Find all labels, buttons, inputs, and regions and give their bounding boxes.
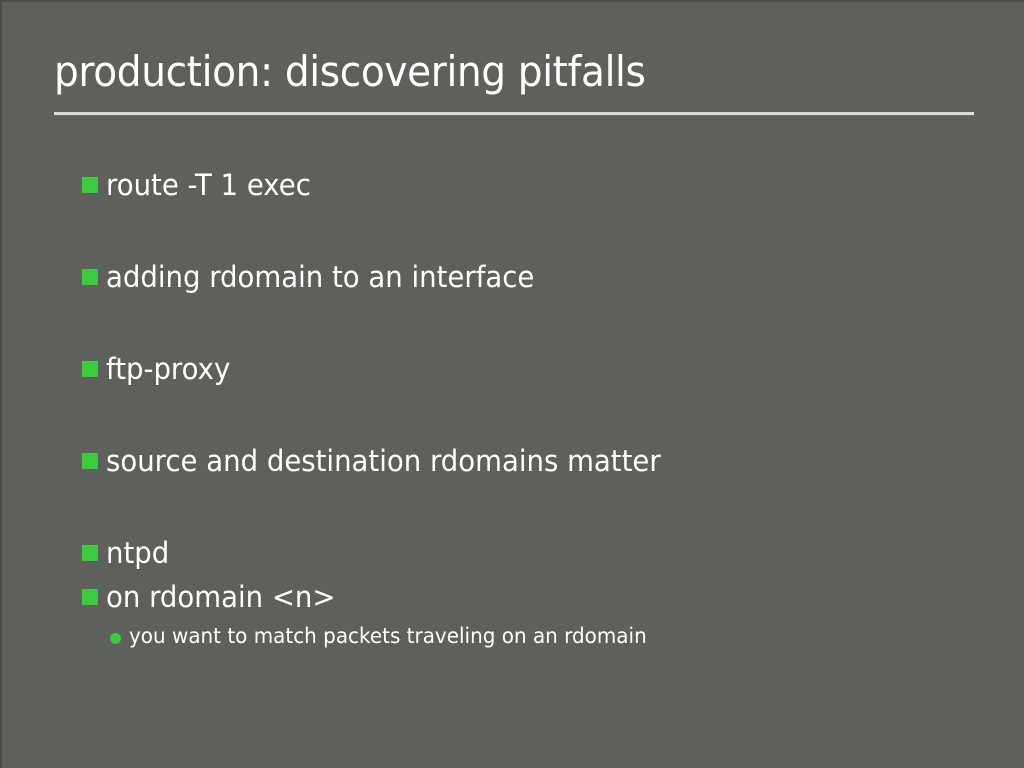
square-bullet-icon	[82, 177, 98, 193]
list-item: ftp-proxy	[82, 348, 982, 440]
list-item-label: ntpd	[106, 532, 169, 574]
list-item-label: route -T 1 exec	[106, 164, 311, 206]
list-item: on rdomain <n> you want to match packets…	[82, 576, 982, 668]
bullet-list: route -T 1 exec adding rdomain to an int…	[82, 164, 982, 668]
square-bullet-icon	[82, 453, 98, 469]
title-divider	[54, 112, 974, 116]
page-title: production: discovering pitfalls	[54, 44, 910, 100]
presentation-slide: production: discovering pitfalls route -…	[0, 0, 1024, 768]
square-bullet-icon	[82, 361, 98, 377]
list-item-label: source and destination rdomains matter	[106, 440, 661, 482]
list-item-label: adding rdomain to an interface	[106, 256, 534, 298]
title-block: production: discovering pitfalls	[54, 44, 974, 100]
list-item-label: ftp-proxy	[106, 348, 230, 390]
list-item: adding rdomain to an interface	[82, 256, 982, 348]
square-bullet-icon	[82, 545, 98, 561]
sub-list-item: you want to match packets traveling on a…	[82, 576, 982, 658]
dot-bullet-icon	[110, 633, 121, 644]
square-bullet-icon	[82, 269, 98, 285]
list-item: route -T 1 exec	[82, 164, 982, 256]
sub-list-item-label: you want to match packets traveling on a…	[129, 620, 647, 652]
list-item: source and destination rdomains matter	[82, 440, 982, 532]
